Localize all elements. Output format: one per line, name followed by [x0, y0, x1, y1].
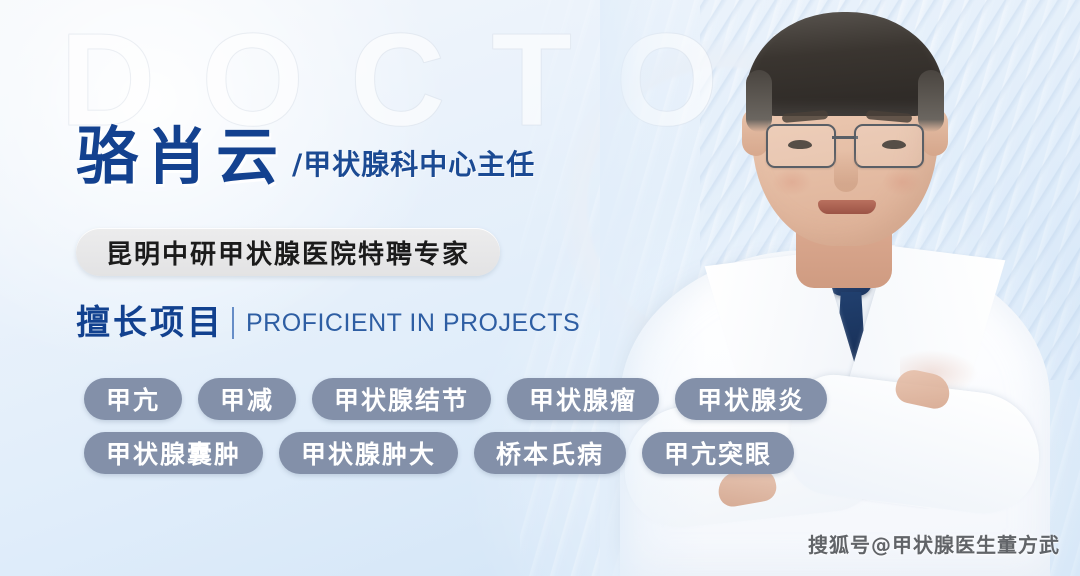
source-watermark: 搜狐号@甲状腺医生董方武 — [808, 529, 1060, 558]
specialty-tag-list: 甲亢 甲减 甲状腺结节 甲状腺瘤 甲状腺炎 甲状腺囊肿 甲状腺肿大 桥本氏病 甲… — [84, 378, 1004, 486]
specialty-tag[interactable]: 桥本氏病 — [474, 432, 626, 474]
banner-content: 骆肖云 /甲状腺科中心主任 昆明中研甲状腺医院特聘专家 擅长项目 PROFICI… — [0, 0, 1080, 576]
specialty-tag[interactable]: 甲亢 — [84, 378, 182, 420]
doctor-profile-banner: DOCTOR — [0, 0, 1080, 576]
specialties-section-heading: 擅长项目 PROFICIENT IN PROJECTS — [76, 306, 580, 340]
specialty-tag[interactable]: 甲状腺肿大 — [279, 432, 458, 474]
specialty-tag[interactable]: 甲状腺瘤 — [507, 378, 659, 420]
doctor-name-row: 骆肖云 /甲状腺科中心主任 — [76, 126, 535, 188]
specialty-tag-row-1: 甲亢 甲减 甲状腺结节 甲状腺瘤 甲状腺炎 — [84, 378, 1004, 420]
section-title-cn: 擅长项目 — [76, 306, 224, 340]
specialty-tag[interactable]: 甲状腺囊肿 — [84, 432, 263, 474]
specialty-tag[interactable]: 甲状腺结节 — [312, 378, 491, 420]
specialty-tag[interactable]: 甲亢突眼 — [642, 432, 794, 474]
section-divider — [232, 307, 234, 339]
section-title-en: PROFICIENT IN PROJECTS — [246, 311, 580, 336]
specialty-tag-row-2: 甲状腺囊肿 甲状腺肿大 桥本氏病 甲亢突眼 — [84, 432, 1004, 474]
doctor-name: 骆肖云 — [76, 126, 286, 188]
hospital-affiliation-badge: 昆明中研甲状腺医院特聘专家 — [76, 228, 500, 276]
specialty-tag[interactable]: 甲状腺炎 — [675, 378, 827, 420]
specialty-tag[interactable]: 甲减 — [198, 378, 296, 420]
doctor-role: /甲状腺科中心主任 — [292, 143, 535, 188]
